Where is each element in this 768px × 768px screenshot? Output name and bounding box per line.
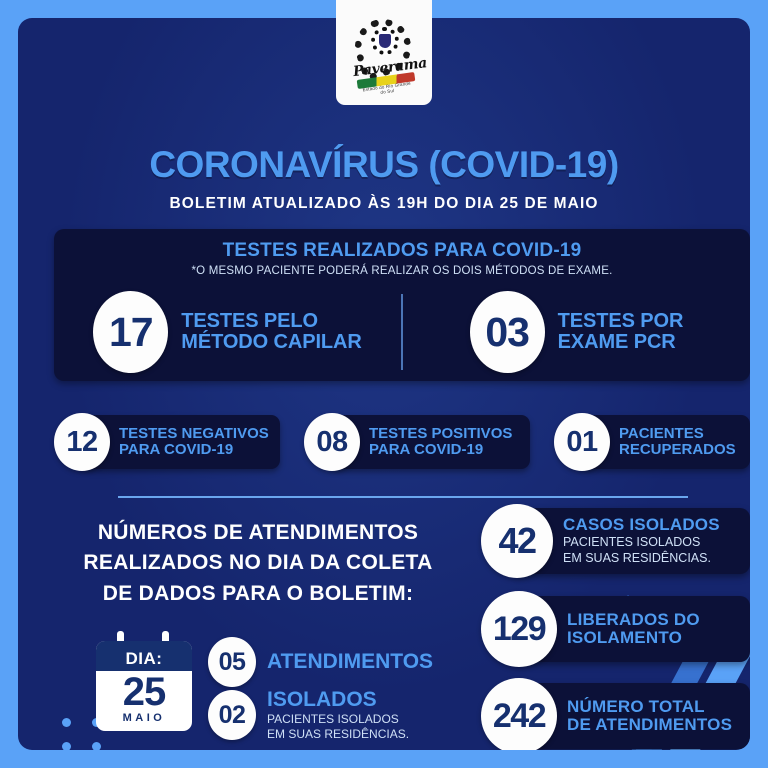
- test-label-pcr-line1: TESTES POR: [558, 311, 684, 332]
- right-label-casos-isolados: CASOS ISOLADOS: [563, 516, 720, 534]
- stat-value-negativos: 12: [54, 413, 110, 471]
- right-value-total-atendimentos: 242: [481, 678, 557, 750]
- right-box-casos-isolados: 42 CASOS ISOLADOS PACIENTES ISOLADOS EM …: [481, 508, 750, 574]
- attendance-item-atendimentos: 05 ATENDIMENTOS: [208, 637, 433, 687]
- right-value-casos-isolados: 42: [481, 504, 553, 578]
- test-item-capilar: 17 TESTES PELO MÉTODO CAPILAR: [54, 291, 401, 373]
- stat-label-recuperados-line1: PACIENTES: [619, 426, 736, 442]
- attendance-value-atendimentos: 05: [208, 637, 256, 687]
- crest-shield-icon: [379, 34, 391, 48]
- attendance-heading: NÚMEROS DE ATENDIMENTOS REALIZADOS NO DI…: [48, 518, 468, 609]
- stat-label-negativos-line1: TESTES NEGATIVOS: [119, 426, 269, 442]
- page-title: CORONAVÍRUS (COVID-19): [18, 144, 750, 186]
- tests-panel: TESTES REALIZADOS PARA COVID-19 *O MESMO…: [54, 229, 750, 381]
- calendar-icon: DIA: 25 MAIO: [96, 631, 192, 731]
- stat-label-recuperados: PACIENTES RECUPERADOS: [619, 426, 736, 458]
- right-label-liberados-line2: ISOLAMENTO: [567, 629, 700, 647]
- stat-label-recuperados-line2: RECUPERADOS: [619, 442, 736, 458]
- stat-label-positivos: TESTES POSITIVOS PARA COVID-19: [369, 426, 512, 458]
- test-label-capilar-line2: MÉTODO CAPILAR: [181, 332, 361, 353]
- right-label-total-line2: DE ATENDIMENTOS: [567, 716, 732, 734]
- stat-label-negativos-line2: PARA COVID-19: [119, 442, 269, 458]
- attendance-heading-line2: REALIZADOS NO DIA DA COLETA: [48, 548, 468, 578]
- tests-panel-heading: TESTES REALIZADOS PARA COVID-19: [54, 240, 750, 262]
- stat-value-recuperados: 01: [554, 413, 610, 471]
- paverama-crest-icon: Paverama Estado do Rio Grande do Sul: [347, 13, 421, 93]
- calendar-month: MAIO: [96, 712, 192, 724]
- right-sub-casos-isolados-line2: EM SUAS RESIDÊNCIAS.: [563, 551, 720, 566]
- attendance-label-atendimentos: ATENDIMENTOS: [267, 651, 433, 673]
- attendance-value-isolados: 02: [208, 690, 256, 740]
- right-box-total-atendimentos: 242 NÚMERO TOTAL DE ATENDIMENTOS: [481, 683, 750, 749]
- attendance-label-isolados: ISOLADOS: [267, 689, 409, 711]
- calendar-label: DIA:: [96, 641, 192, 671]
- tests-panel-note: *O MESMO PACIENTE PODERÁ REALIZAR OS DOI…: [54, 265, 750, 277]
- right-box-liberados: 129 LIBERADOS DO ISOLAMENTO: [481, 596, 750, 662]
- tests-vertical-divider: [401, 294, 403, 370]
- stat-row: 12 TESTES NEGATIVOS PARA COVID-19 08 TES…: [54, 410, 750, 474]
- test-label-pcr-line2: EXAME PCR: [558, 332, 684, 353]
- test-label-capilar-line1: TESTES PELO: [181, 311, 361, 332]
- stat-box-negativos: 12 TESTES NEGATIVOS PARA COVID-19: [54, 415, 280, 469]
- right-label-liberados-line1: LIBERADOS DO: [567, 611, 700, 629]
- stat-label-negativos: TESTES NEGATIVOS PARA COVID-19: [119, 426, 269, 458]
- page-subtitle: BOLETIM ATUALIZADO ÀS 19H DO DIA 25 DE M…: [18, 195, 750, 213]
- calendar-day: 25: [96, 673, 192, 712]
- test-label-capilar: TESTES PELO MÉTODO CAPILAR: [181, 311, 361, 353]
- poster-inner-panel: CORONAVÍRUS (COVID-19) BOLETIM ATUALIZAD…: [18, 18, 750, 750]
- attendance-heading-line1: NÚMEROS DE ATENDIMENTOS: [48, 518, 468, 548]
- test-value-capilar: 17: [93, 291, 168, 373]
- infographic-poster: CORONAVÍRUS (COVID-19) BOLETIM ATUALIZAD…: [0, 0, 768, 768]
- test-value-pcr: 03: [470, 291, 545, 373]
- section-divider: [118, 496, 688, 498]
- right-label-total-line1: NÚMERO TOTAL: [567, 698, 732, 716]
- test-item-pcr: 03 TESTES POR EXAME PCR: [403, 291, 750, 373]
- stat-label-positivos-line1: TESTES POSITIVOS: [369, 426, 512, 442]
- municipality-logo-card: Paverama Estado do Rio Grande do Sul: [336, 0, 432, 105]
- attendance-item-isolados: 02 ISOLADOS PACIENTES ISOLADOS EM SUAS R…: [208, 689, 409, 742]
- right-sub-casos-isolados-line1: PACIENTES ISOLADOS: [563, 535, 720, 550]
- stat-box-recuperados: 01 PACIENTES RECUPERADOS: [554, 415, 750, 469]
- attendance-sub-isolados-line2: EM SUAS RESIDÊNCIAS.: [267, 727, 409, 741]
- test-label-pcr: TESTES POR EXAME PCR: [558, 311, 684, 353]
- stat-label-positivos-line2: PARA COVID-19: [369, 442, 512, 458]
- right-value-liberados: 129: [481, 591, 557, 667]
- stat-value-positivos: 08: [304, 413, 360, 471]
- attendance-sub-isolados-line1: PACIENTES ISOLADOS: [267, 712, 409, 726]
- attendance-heading-line3: DE DADOS PARA O BOLETIM:: [48, 579, 468, 609]
- stat-box-positivos: 08 TESTES POSITIVOS PARA COVID-19: [304, 415, 530, 469]
